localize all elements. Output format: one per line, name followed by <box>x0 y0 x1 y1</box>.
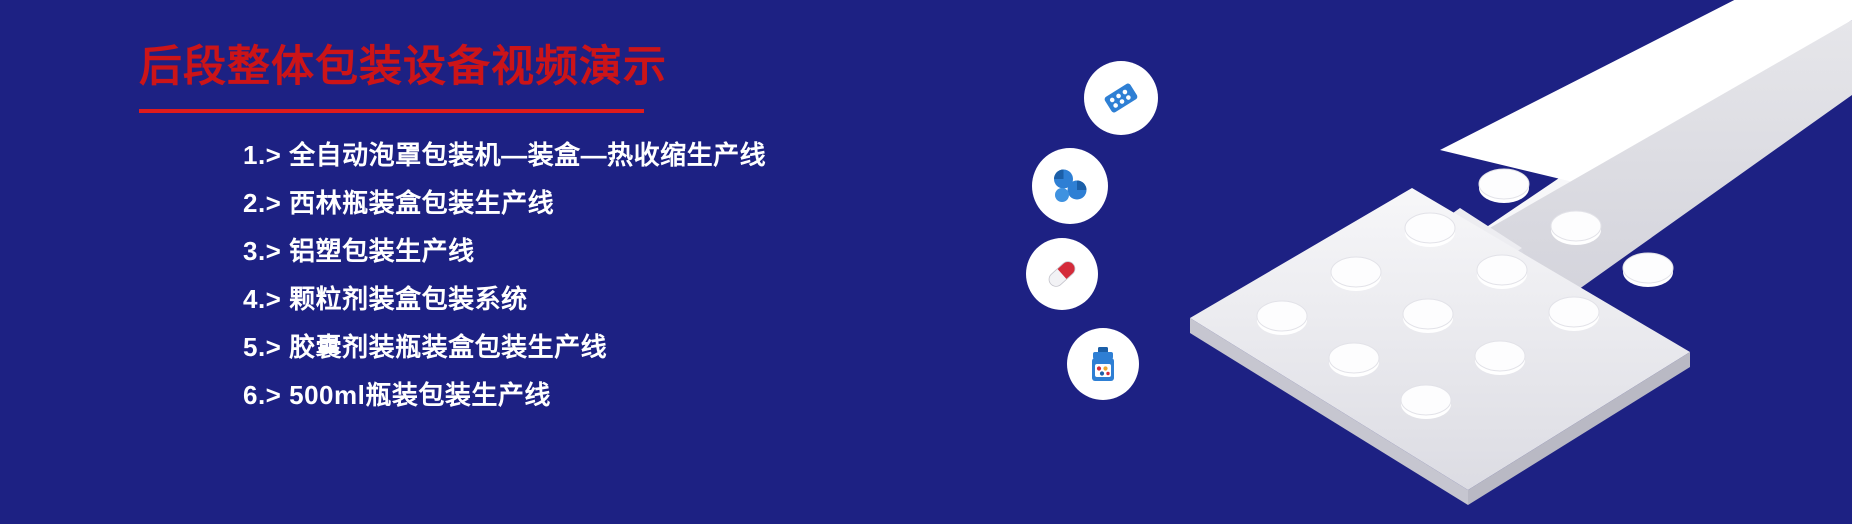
list-item-label: 西林瓶装盒包装生产线 <box>289 188 554 218</box>
capsule-icon <box>1026 238 1098 310</box>
list-item[interactable]: 1.> 全自动泡罩包装机—装盒—热收缩生产线 <box>243 131 1103 179</box>
list-item-number: 4.> <box>243 284 281 314</box>
list-item-label: 颗粒剂装盒包装系统 <box>289 284 528 314</box>
list-item[interactable]: 3.> 铝塑包装生产线 <box>243 227 1103 275</box>
list-item-number: 6.> <box>243 380 281 410</box>
list-item-label: 500ml瓶装包装生产线 <box>289 380 551 410</box>
list-item[interactable]: 2.> 西林瓶装盒包装生产线 <box>243 179 1103 227</box>
list-item-number: 1.> <box>243 140 281 170</box>
page-title: 后段整体包装设备视频演示 <box>139 42 899 93</box>
title-underline-rule <box>139 109 644 113</box>
title-block: 后段整体包装设备视频演示 <box>139 42 899 113</box>
list-item-label: 全自动泡罩包装机—装盒—热收缩生产线 <box>289 140 766 170</box>
list-item-label: 铝塑包装生产线 <box>289 236 475 266</box>
pharmaceutical-packaging-illustration <box>1130 0 1852 524</box>
list-item-number: 5.> <box>243 332 281 362</box>
pills-icon <box>1032 148 1108 224</box>
list-item-label: 胶囊剂装瓶装盒包装生产线 <box>289 332 607 362</box>
list-item[interactable]: 5.> 胶囊剂装瓶装盒包装生产线 <box>243 323 1103 371</box>
list-item-number: 2.> <box>243 188 281 218</box>
list-item[interactable]: 4.> 颗粒剂装盒包装系统 <box>243 275 1103 323</box>
feature-list: 1.> 全自动泡罩包装机—装盒—热收缩生产线 2.> 西林瓶装盒包装生产线 3.… <box>243 131 1103 419</box>
medicine-bottle-icon <box>1067 328 1139 400</box>
list-item-number: 3.> <box>243 236 281 266</box>
list-item[interactable]: 6.> 500ml瓶装包装生产线 <box>243 371 1103 419</box>
promo-banner: 后段整体包装设备视频演示 1.> 全自动泡罩包装机—装盒—热收缩生产线 2.> … <box>0 0 1852 524</box>
